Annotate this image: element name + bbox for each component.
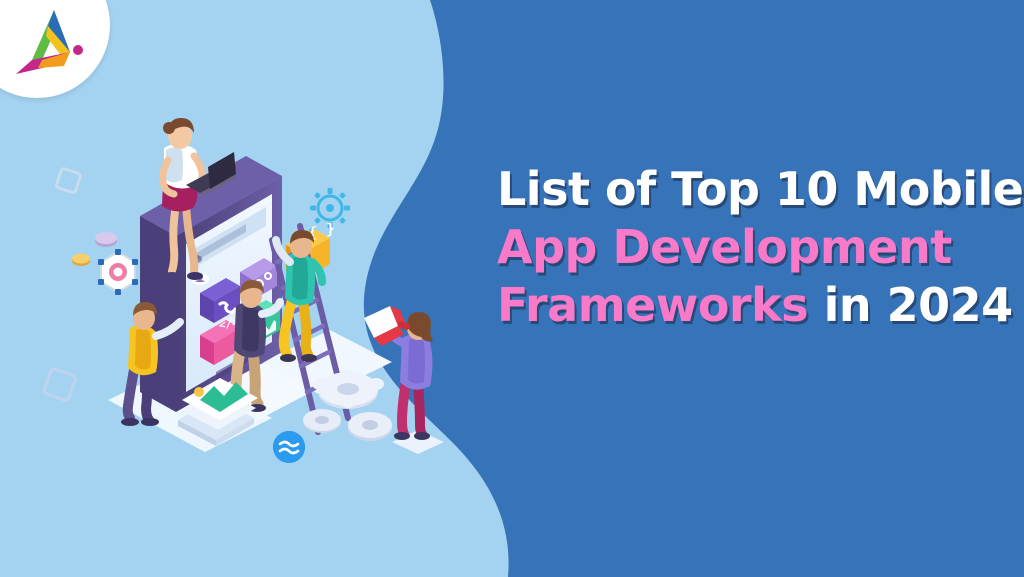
- headline-line-1-text: List of Top 10 Mobile: [497, 162, 1023, 216]
- headline: List of Top 10 Mobile App Development Fr…: [497, 160, 1017, 334]
- appsinvo-logo-mark: [8, 8, 100, 86]
- headline-line-3-pink: Frameworks: [497, 278, 808, 332]
- banner-root: </> { }: [0, 0, 1024, 577]
- headline-line-1: List of Top 10 Mobile: [497, 160, 1017, 218]
- molecule-badge: [98, 249, 138, 295]
- headline-line-3-white: in 2024: [808, 278, 1013, 332]
- floating-squares: [43, 168, 81, 401]
- headline-line-2: App Development: [497, 218, 1017, 276]
- logo-badge[interactable]: APPSINVO: [0, 0, 110, 98]
- headline-line-3: Frameworks in 2024: [497, 276, 1017, 334]
- gears: [303, 370, 392, 441]
- headline-line-2-text: App Development: [497, 220, 952, 274]
- wave-badge: [273, 431, 305, 463]
